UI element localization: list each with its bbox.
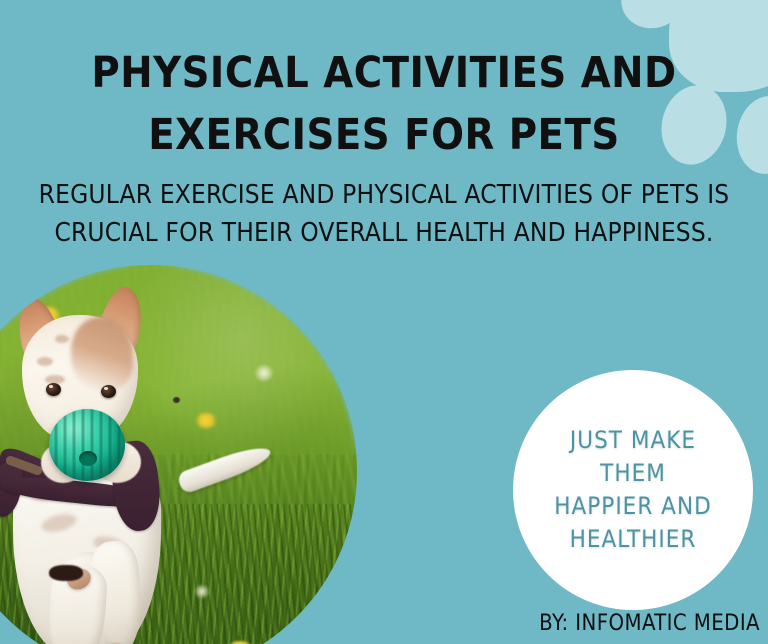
page-subtitle-line-2: CRUCIAL FOR THEIR OVERALL HEALTH AND HAP… bbox=[0, 214, 768, 252]
paw-toe-left bbox=[614, 0, 693, 36]
dog-photo bbox=[0, 265, 357, 644]
quote-line-4: HEALTHIER bbox=[554, 523, 711, 556]
dog-collar-tag bbox=[49, 565, 83, 581]
quote-line-2: THEM bbox=[554, 457, 711, 490]
page-title-line-2: EXERCISES FOR PETS bbox=[0, 104, 768, 166]
credit-text: BY: INFOMATIC MEDIA bbox=[539, 611, 760, 636]
dog-head-patch bbox=[71, 317, 133, 391]
poster-canvas: PHYSICAL ACTIVITIES AND EXERCISES FOR PE… bbox=[0, 0, 768, 644]
quote-line-3: HAPPIER AND bbox=[554, 490, 711, 523]
grass-background bbox=[0, 265, 357, 644]
page-title-line-1: PHYSICAL ACTIVITIES AND bbox=[0, 42, 768, 104]
insect-speck bbox=[173, 397, 180, 403]
running-dog bbox=[0, 265, 357, 644]
page-title: PHYSICAL ACTIVITIES AND EXERCISES FOR PE… bbox=[0, 42, 768, 166]
quote-badge-text: JUST MAKE THEM HAPPIER AND HEALTHIER bbox=[554, 424, 711, 556]
ball-hole bbox=[79, 451, 97, 466]
page-subtitle: REGULAR EXERCISE AND PHYSICAL ACTIVITIES… bbox=[0, 176, 768, 252]
dog-tail bbox=[176, 441, 274, 495]
quote-badge: JUST MAKE THEM HAPPIER AND HEALTHIER bbox=[513, 370, 753, 610]
page-subtitle-line-1: REGULAR EXERCISE AND PHYSICAL ACTIVITIES… bbox=[0, 176, 768, 214]
dog-freckle bbox=[37, 357, 53, 366]
quote-line-1: JUST MAKE bbox=[554, 424, 711, 457]
dog-freckle bbox=[55, 335, 69, 343]
dog-eye-highlight bbox=[104, 387, 108, 390]
ball-ridges bbox=[49, 409, 125, 481]
dog-eye-highlight bbox=[49, 385, 53, 388]
green-toy-ball bbox=[49, 409, 125, 481]
